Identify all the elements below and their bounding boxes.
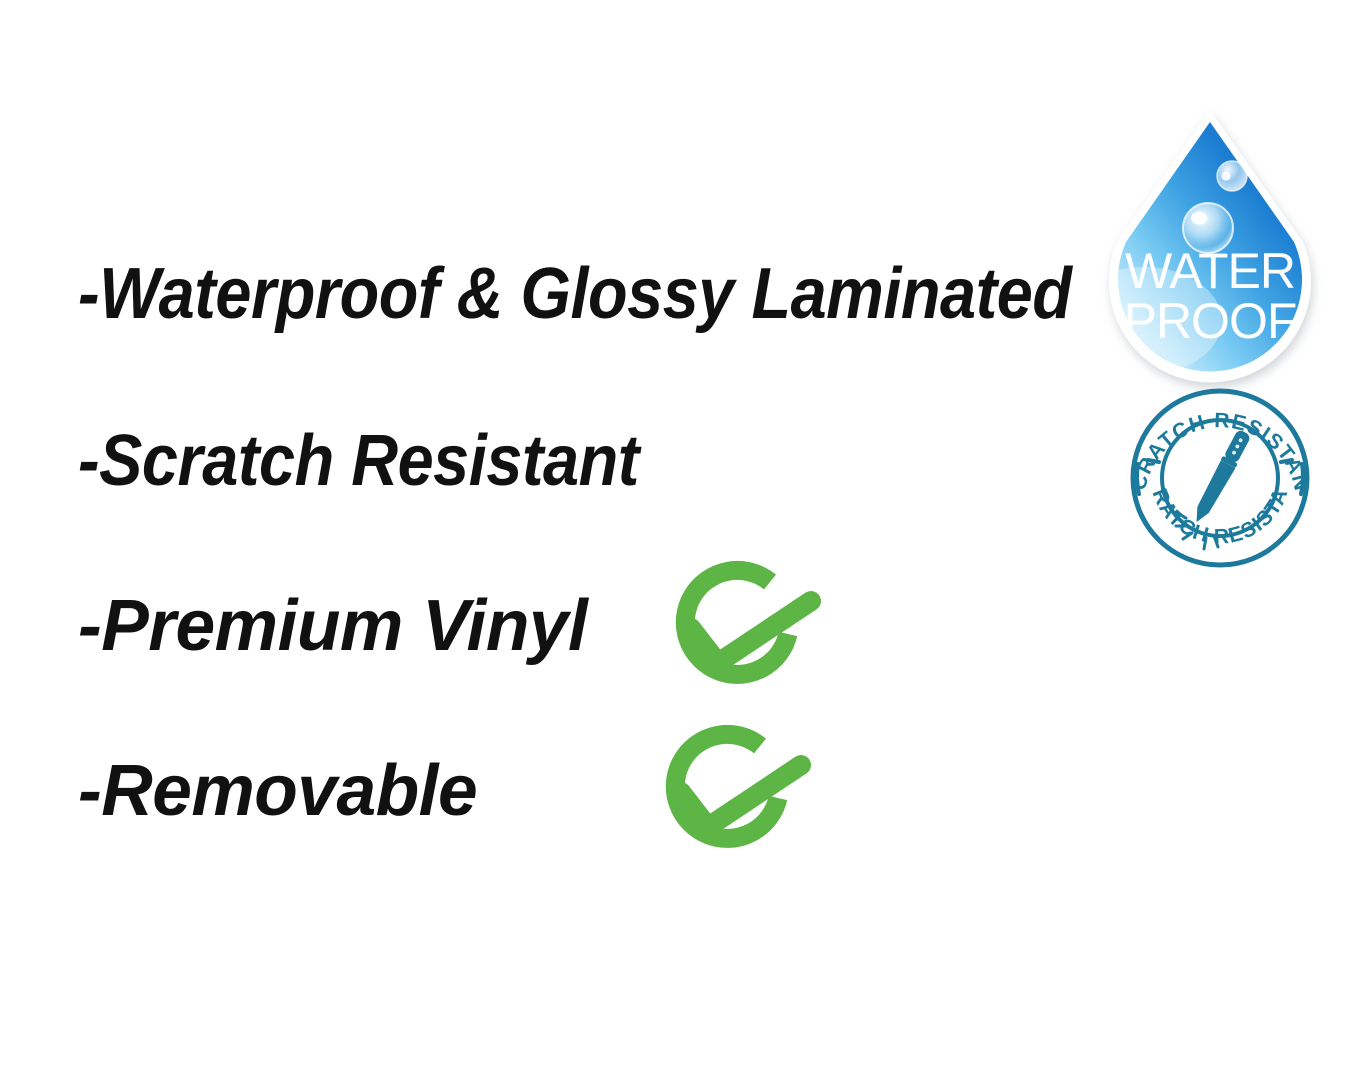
feature-item-removable: -Removable — [78, 755, 477, 827]
droplet-bubble-large-glint — [1191, 212, 1207, 225]
product-feature-graphic: -Waterproof & Glossy Laminated -Scratch … — [0, 0, 1359, 1080]
waterproof-line1-text: WATER — [1125, 243, 1295, 299]
green-check-removable — [638, 724, 824, 874]
feature-item-waterproof-glossy-laminated: -Waterproof & Glossy Laminated — [78, 258, 1071, 330]
check-mark-stroke — [681, 765, 801, 827]
knife-icon — [1189, 428, 1252, 526]
waterproof-droplet-badge: WATER PROOF — [1104, 106, 1316, 364]
scratch-resistant-stamp-badge: SCRATCH RESISTANT SCRATCH RESISTANT — [1126, 386, 1314, 570]
droplet-bubble-small-glint — [1221, 171, 1230, 180]
green-check-premium-vinyl — [648, 560, 834, 710]
feature-item-scratch-resistant: -Scratch Resistant — [78, 425, 639, 497]
feature-item-premium-vinyl: -Premium Vinyl — [78, 590, 587, 662]
waterproof-line2-text: PROOF — [1124, 293, 1297, 349]
check-mark-stroke — [691, 601, 811, 663]
feature-list: -Waterproof & Glossy Laminated -Scratch … — [0, 0, 1100, 1080]
